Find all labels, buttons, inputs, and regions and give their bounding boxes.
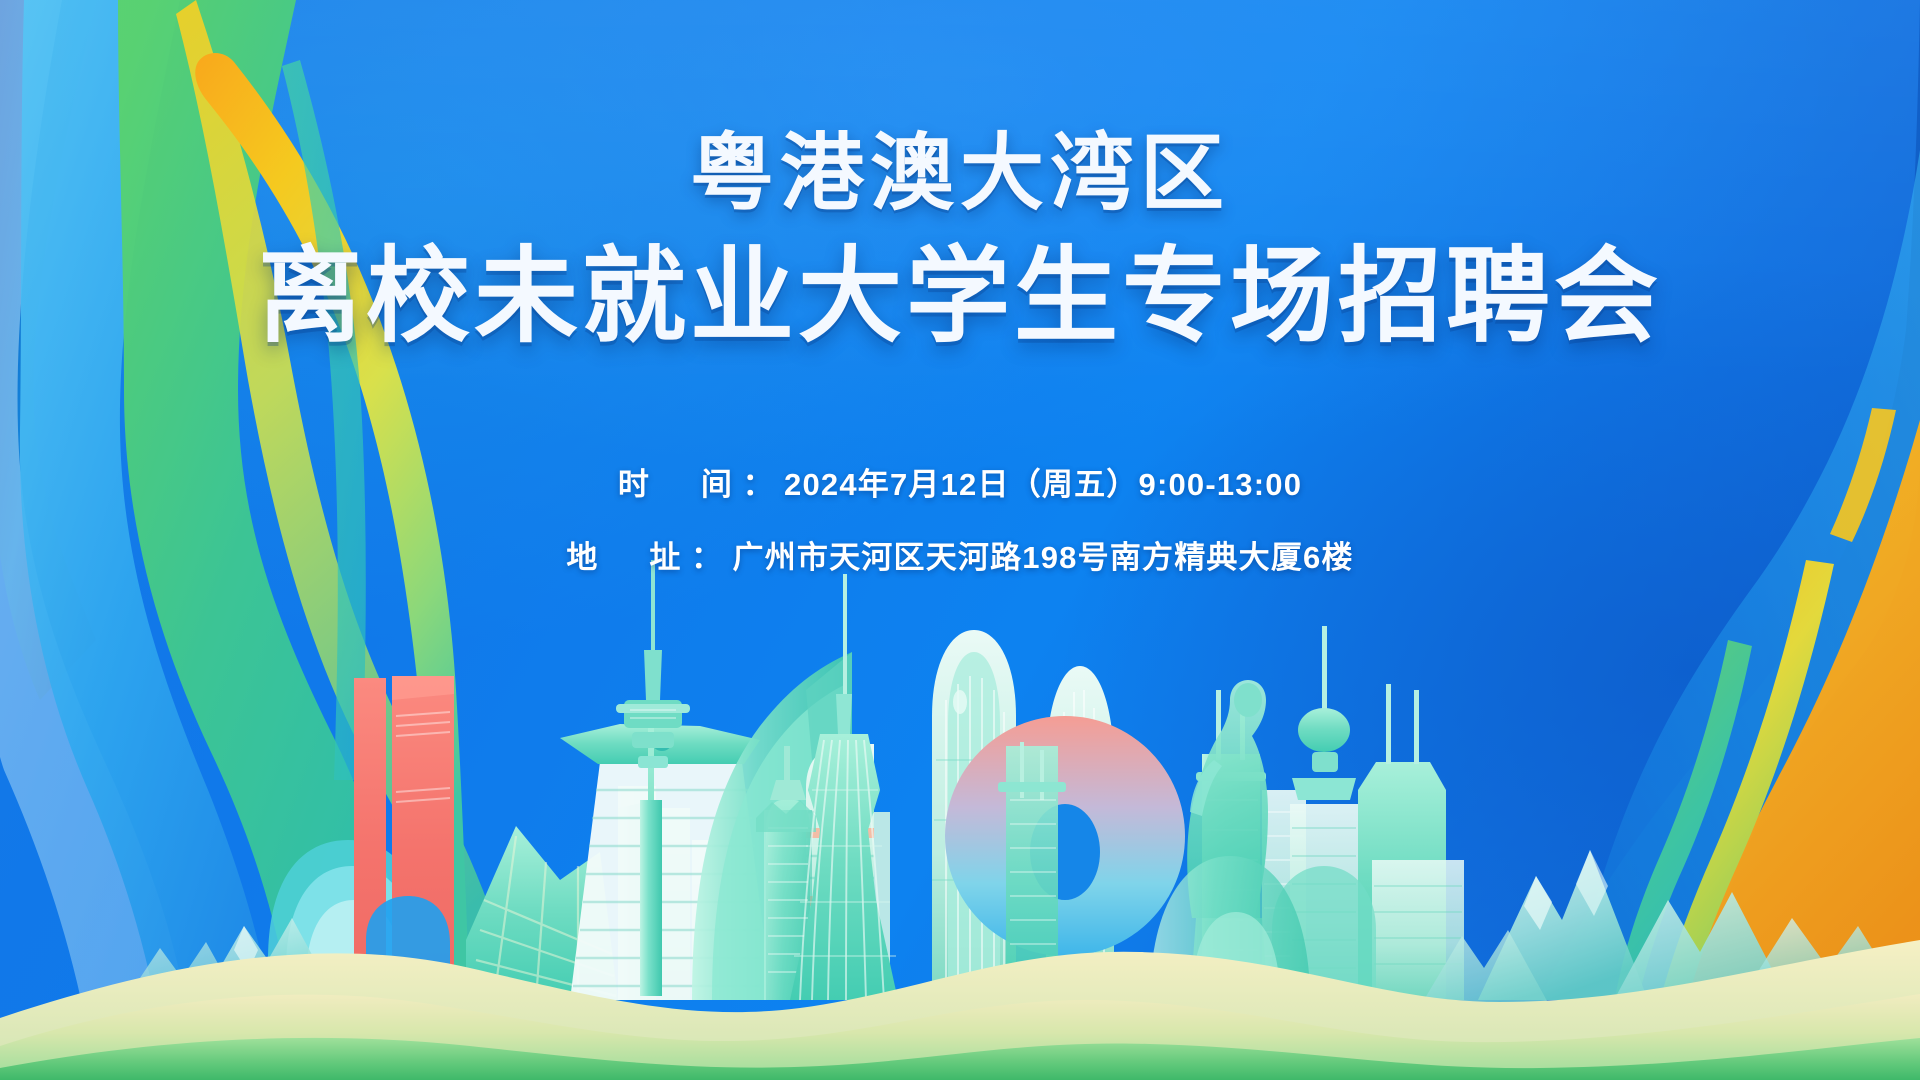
event-address-label: 地 址：: [566, 540, 732, 575]
event-time-row: 时 间：2024年7月12日（周五）9:00-13:00: [0, 353, 1920, 500]
title-line-1: 粤港澳大湾区: [0, 0, 1920, 219]
poster-canvas: 粤港澳大湾区 离校未就业大学生专场招聘会 时 间：2024年7月12日（周五）9…: [0, 0, 1920, 1080]
event-time-label: 时 间：: [618, 467, 784, 502]
title-line-2: 离校未就业大学生专场招聘会: [0, 219, 1920, 353]
event-time-value: 2024年7月12日（周五）9:00-13:00: [784, 467, 1302, 502]
event-address-row: 地 址：广州市天河区天河路198号南方精典大厦6楼: [0, 500, 1920, 573]
poster-text-block: 粤港澳大湾区 离校未就业大学生专场招聘会 时 间：2024年7月12日（周五）9…: [0, 0, 1920, 573]
event-address-value: 广州市天河区天河路198号南方精典大厦6楼: [733, 540, 1354, 575]
